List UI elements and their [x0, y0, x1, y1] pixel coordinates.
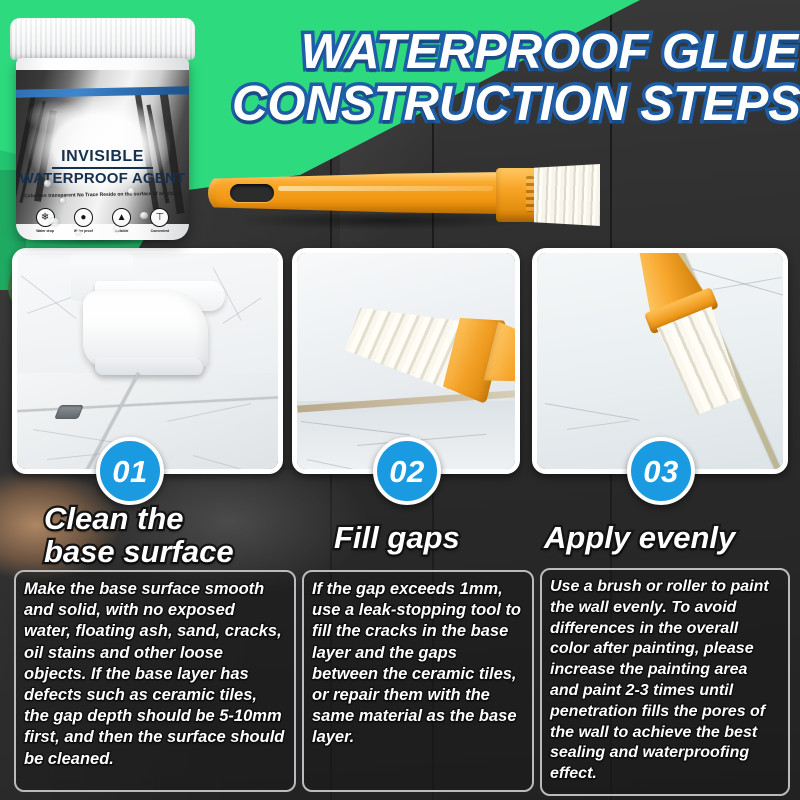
- feature-icon-label: Water drop: [32, 229, 58, 233]
- title-line-1: WATERPROOF GLUE: [232, 28, 798, 76]
- brush-shadow: [234, 214, 534, 230]
- step-description-box-2: If the gap exceeds 1mm, use a leak-stopp…: [302, 570, 534, 792]
- step-heading-3: Apply evenly: [544, 522, 800, 553]
- step-heading-1: Clean the base surface: [44, 503, 314, 567]
- step-heading-2-line1: Fill gaps: [334, 522, 544, 553]
- brush-handle-ridge: [278, 186, 493, 191]
- toilet-base: [95, 357, 203, 375]
- brush-hang-hole: [230, 184, 274, 202]
- step-description-3: Use a brush or roller to paint the wall …: [550, 577, 780, 785]
- jar-label: INVISIBLE WATERPROOF AGENT Colorless tra…: [16, 70, 189, 224]
- step-badge-3: 03: [627, 437, 695, 505]
- step-number-3: 03: [643, 456, 678, 487]
- jar-divider: [52, 167, 153, 169]
- step-description-2: If the gap exceeds 1mm, use a leak-stopp…: [312, 579, 524, 749]
- header-brush-graphic: [208, 158, 600, 248]
- step-number-2: 02: [389, 456, 424, 487]
- jar-body: INVISIBLE WATERPROOF AGENT Colorless tra…: [16, 58, 189, 240]
- step-heading-1-line2: base surface: [44, 536, 314, 567]
- step-badge-2: 02: [373, 437, 441, 505]
- step-heading-1-line1: Clean the: [44, 503, 314, 534]
- step-heading-3-line1: Apply evenly: [544, 522, 800, 553]
- feature-icon-label: Water proof: [70, 229, 96, 233]
- feature-icon-glyph: ⊤: [150, 208, 169, 227]
- poster-title: WATERPROOF GLUE CONSTRUCTION STEPS: [232, 28, 798, 128]
- product-feature-icons: ❄ Water drop ● Water proof ▲ Invisible ⊤…: [26, 208, 179, 233]
- product-jar: INVISIBLE WATERPROOF AGENT Colorless tra…: [10, 18, 195, 240]
- product-name-line1: INVISIBLE: [16, 148, 189, 166]
- poster-canvas: INVISIBLE WATERPROOF AGENT Colorless tra…: [0, 0, 800, 800]
- feature-invisible-icon: ▲ Invisible: [109, 208, 135, 233]
- brush-bristles: [534, 164, 600, 226]
- step-number-1: 01: [112, 456, 147, 487]
- step-description-box-3: Use a brush or roller to paint the wall …: [540, 568, 790, 796]
- feature-waterproof-icon: ● Water proof: [70, 208, 96, 233]
- feature-icon-glyph: ●: [74, 208, 93, 227]
- feature-icon-label: Convenient: [147, 229, 173, 233]
- brush-ferrule: [496, 168, 540, 222]
- step-description-1: Make the base surface smooth and solid, …: [24, 579, 286, 770]
- feature-icon-glyph: ▲: [112, 208, 131, 227]
- step-photo-1: [12, 248, 283, 474]
- title-line-2: CONSTRUCTION STEPS: [232, 80, 798, 128]
- step-badge-1: 01: [96, 437, 164, 505]
- step-description-box-1: Make the base surface smooth and solid, …: [14, 570, 296, 792]
- product-name-line2: WATERPROOF AGENT: [16, 170, 189, 187]
- feature-icon-label: Invisible: [109, 229, 135, 233]
- jar-lid: [10, 18, 195, 60]
- step-heading-2: Fill gaps: [334, 522, 544, 553]
- feature-convenient-icon: ⊤ Convenient: [147, 208, 173, 233]
